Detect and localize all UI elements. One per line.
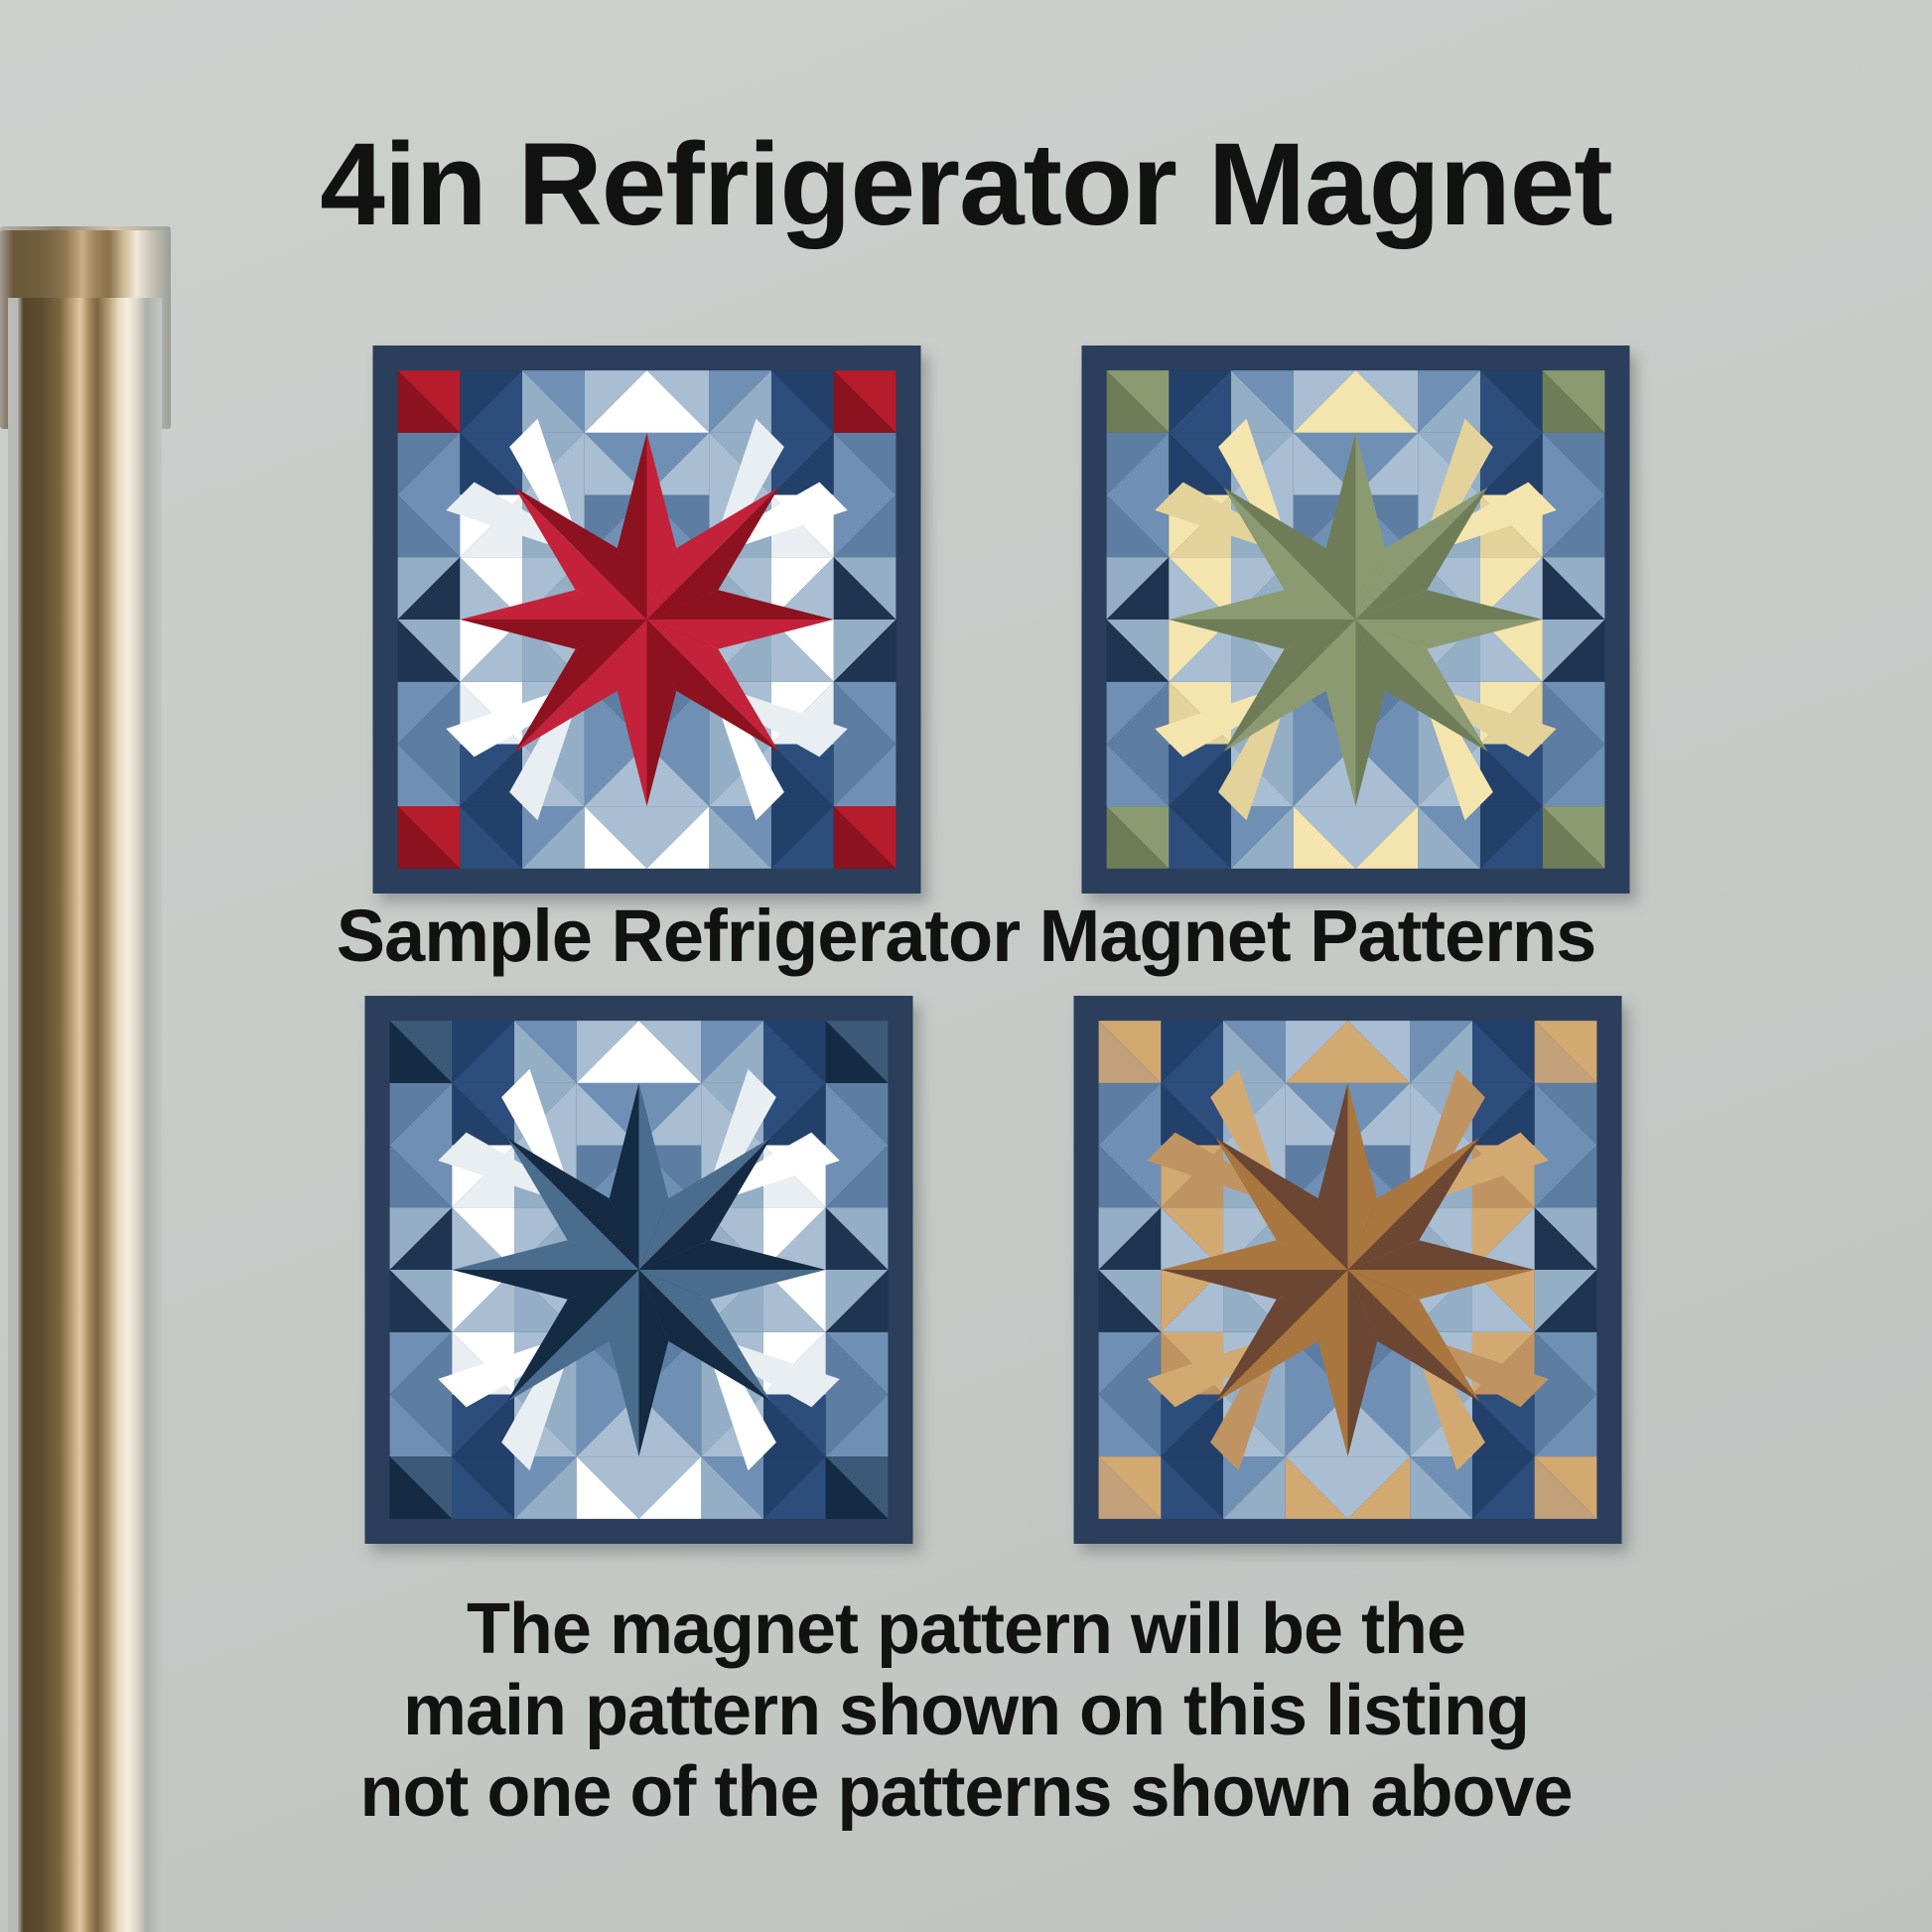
bottom-note: The magnet pattern will be the main patt… bbox=[0, 1588, 1932, 1833]
bottom-note-line-3: not one of the patterns shown above bbox=[0, 1751, 1932, 1833]
barn-quilt-pattern-tan-brown-blue bbox=[1073, 996, 1622, 1544]
bottom-note-line-2: main pattern shown on this listing bbox=[0, 1670, 1932, 1751]
barn-quilt-pattern-red-white-blue bbox=[372, 345, 921, 894]
barn-quilt-pattern-blue-white bbox=[364, 996, 913, 1544]
page-title: 4in Refrigerator Magnet bbox=[0, 117, 1932, 252]
product-listing-image: 4in Refrigerator Magnet Sample Refrigera… bbox=[0, 0, 1932, 1932]
middle-caption: Sample Refrigerator Magnet Patterns bbox=[0, 894, 1932, 978]
barn-quilt-pattern-cream-olive-blue bbox=[1081, 345, 1630, 894]
bottom-note-line-1: The magnet pattern will be the bbox=[0, 1588, 1932, 1670]
